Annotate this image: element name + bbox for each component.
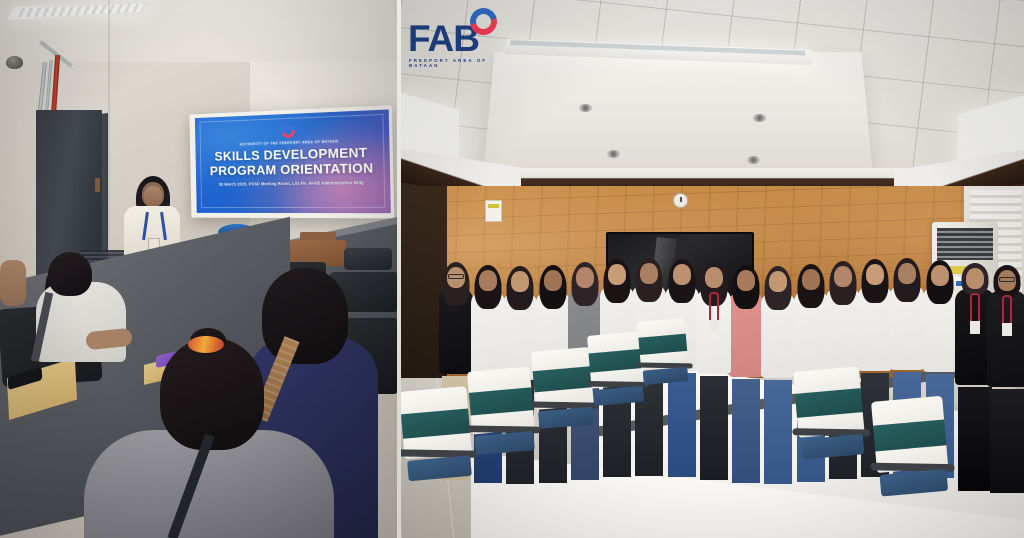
ceiling-drop-panel [483, 52, 872, 175]
fab-swoosh-icon [470, 8, 497, 35]
attendee-head [160, 338, 264, 450]
office-chair [637, 318, 688, 369]
wall-notice [485, 200, 502, 222]
staff-male [987, 265, 1024, 471]
participant-5-head [576, 267, 594, 288]
participant-2-head [479, 270, 497, 291]
staff-male-eyeglasses-icon [999, 277, 1015, 282]
office-chair [401, 386, 472, 459]
attendee-arm [0, 260, 26, 306]
participant-12-head [802, 269, 820, 290]
staff-female-lanyard [970, 293, 980, 323]
office-chair [793, 366, 865, 438]
participant-11-legs [764, 380, 792, 484]
participant-10-legs [732, 379, 760, 483]
participant-11-head [769, 271, 787, 292]
wall-clock-icon [673, 193, 688, 208]
participant-8-legs [668, 373, 696, 477]
participant-13-head [834, 266, 852, 287]
slide-fab-logo-icon [281, 125, 294, 138]
attendee-head [48, 252, 92, 296]
participant-1-eyeglasses-icon [448, 274, 464, 279]
participant-6-head [608, 264, 626, 285]
right-panel [401, 0, 1024, 538]
participant-9-id-badge [709, 320, 719, 333]
participant-4-head [544, 270, 562, 291]
presenter-face [144, 186, 162, 207]
staff-female-id-badge [970, 321, 980, 334]
participant-15-head [898, 263, 916, 284]
participant-7-head [640, 263, 658, 284]
fab-logo: FAB FREEPORT AREA OF BATAAN [408, 14, 512, 66]
recessed-downlight-icon [747, 156, 760, 164]
office-chair [587, 331, 644, 388]
participant-9 [697, 262, 731, 458]
participant-14-head [866, 264, 884, 285]
staff-female-head [966, 268, 984, 289]
office-chair [531, 347, 594, 410]
office-chair [467, 367, 535, 435]
office-chair [871, 396, 948, 473]
recessed-downlight-icon [607, 150, 620, 158]
participant-8-head [673, 264, 691, 285]
fab-logo-tagline: FREEPORT AREA OF BATAAN [409, 58, 512, 68]
staff-male-id-badge [1002, 323, 1012, 336]
participant-3-head [511, 271, 529, 292]
slide-title-line2: PROGRAM ORIENTATION [196, 161, 390, 178]
participant-11 [761, 266, 795, 462]
slide-content: AUTHORITY OF THE FREEPORT AREA OF BATAAN… [195, 109, 391, 213]
projector-screen: AUTHORITY OF THE FREEPORT AREA OF BATAAN… [189, 105, 394, 218]
participant-9-legs [700, 376, 728, 480]
participant-16-head [931, 265, 949, 286]
left-panel: AUTHORITY OF THE FREEPORT AREA OF BATAAN… [0, 0, 397, 538]
ac-vent [937, 228, 993, 260]
rack-handle [95, 178, 100, 192]
dark-bag [344, 248, 392, 270]
staff-male-legs [990, 389, 1024, 493]
participant-9-lanyard [709, 292, 719, 322]
staff-male-lanyard [1002, 295, 1012, 325]
recessed-downlight-icon [753, 114, 766, 122]
recessed-downlight-icon [579, 104, 592, 112]
attendee-head [262, 268, 348, 364]
participant-10 [729, 265, 763, 461]
security-camera-icon [6, 56, 23, 69]
photo-collage: AUTHORITY OF THE FREEPORT AREA OF BATAAN… [0, 0, 1024, 538]
participant-10-head [737, 270, 755, 291]
hair-scrunchie [188, 336, 224, 353]
participant-9-head [705, 267, 723, 288]
fab-logo-wordmark: FAB [408, 20, 479, 57]
